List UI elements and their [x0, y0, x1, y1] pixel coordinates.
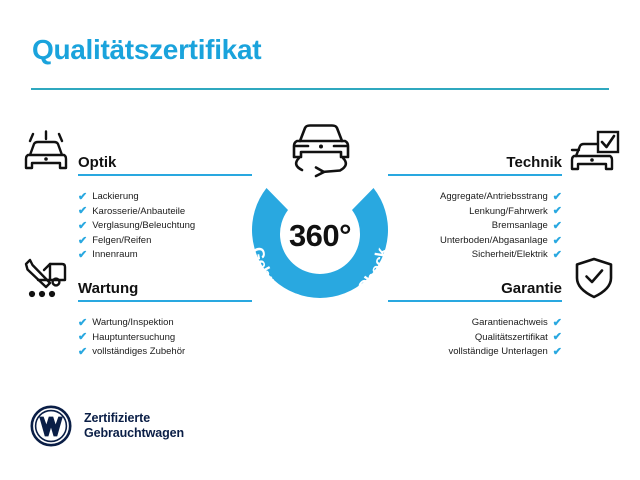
list-item-label: vollständige Unterlagen — [448, 345, 547, 360]
section-underline — [78, 300, 252, 302]
check-icon: ✔ — [78, 236, 87, 247]
check-icon: ✔ — [553, 221, 562, 232]
section-optik: Optik ✔Lackierung ✔Karosserie/Anbauteile… — [20, 130, 252, 263]
section-technik: Technik ✔Aggregate/Antriebsstrang ✔Lenku… — [388, 130, 620, 263]
check-icon: ✔ — [553, 347, 562, 358]
list-item-label: Qualitätszertifikat — [475, 331, 548, 346]
checklist: ✔Lackierung ✔Karosserie/Anbauteile ✔Verg… — [20, 190, 252, 263]
check-icon: ✔ — [78, 332, 87, 343]
list-item-label: Lackierung — [92, 190, 138, 205]
check-icon: ✔ — [553, 332, 562, 343]
section-title: Optik — [78, 154, 252, 174]
check-icon: ✔ — [78, 318, 87, 329]
list-item: ✔Garantienachweis — [388, 316, 620, 331]
checklist: ✔Garantienachweis ✔Qualitätszertifikat ✔… — [388, 316, 620, 360]
list-item: ✔Qualitätszertifikat — [388, 331, 620, 346]
list-item-label: Hauptuntersuchung — [92, 331, 175, 346]
shield-check-icon — [568, 256, 620, 302]
check-icon: ✔ — [553, 318, 562, 329]
list-item: ✔vollständiges Zubehör — [20, 345, 252, 360]
list-item-label: Unterboden/Abgasanlage — [440, 234, 548, 249]
checklist: ✔Aggregate/Antriebsstrang ✔Lenkung/Fahrw… — [388, 190, 620, 263]
check-icon: ✔ — [553, 206, 562, 217]
section-header: Wartung — [20, 256, 252, 308]
section-underline — [388, 300, 562, 302]
section-title: Technik — [388, 154, 562, 174]
section-title-wrap: Wartung — [78, 280, 252, 302]
section-title: Wartung — [78, 280, 252, 300]
list-item-label: Felgen/Reifen — [92, 234, 151, 249]
section-title-wrap: Technik — [388, 154, 562, 176]
list-item-label: Bremsanlage — [492, 219, 548, 234]
list-item-label: Lenkung/Fahrwerk — [469, 205, 548, 220]
section-title-wrap: Optik — [78, 154, 252, 176]
section-underline — [78, 174, 252, 176]
vw-lockup-line1: Zertifizierte — [84, 411, 184, 427]
list-item-label: Verglasung/Beleuchtung — [92, 219, 195, 234]
section-wartung: Wartung ✔Wartung/Inspektion ✔Hauptunters… — [20, 256, 252, 360]
list-item: ✔Verglasung/Beleuchtung — [20, 219, 252, 234]
wrench-car-icon — [20, 256, 72, 302]
list-item: ✔vollständige Unterlagen — [388, 345, 620, 360]
list-item: ✔Lackierung — [20, 190, 252, 205]
list-item-label: vollständiges Zubehör — [92, 345, 185, 360]
list-item: ✔Felgen/Reifen — [20, 234, 252, 249]
section-garantie: Garantie ✔Garantienachweis ✔Qualitätszer… — [388, 256, 620, 360]
section-header: Garantie — [388, 256, 620, 308]
list-item-label: Karosserie/Anbauteile — [92, 205, 185, 220]
list-item-label: Wartung/Inspektion — [92, 316, 174, 331]
list-item: ✔Bremsanlage — [388, 219, 620, 234]
vw-lockup-text: Zertifizierte Gebrauchtwagen — [84, 411, 184, 442]
vw-logo — [30, 405, 72, 447]
check-icon: ✔ — [553, 236, 562, 247]
section-header: Optik — [20, 130, 252, 182]
page-title: Qualitätszertifikat — [32, 34, 261, 66]
list-item: ✔Wartung/Inspektion — [20, 316, 252, 331]
list-item-label: Garantienachweis — [472, 316, 548, 331]
check-icon: ✔ — [78, 206, 87, 217]
car-checkbox-icon — [568, 130, 620, 176]
section-underline — [388, 174, 562, 176]
title-divider — [31, 88, 609, 90]
check-icon: ✔ — [78, 221, 87, 232]
car-shine-icon — [20, 130, 72, 176]
vw-brand-lockup: Zertifizierte Gebrauchtwagen — [30, 405, 184, 447]
list-item: ✔Aggregate/Antriebsstrang — [388, 190, 620, 205]
list-item: ✔Hauptuntersuchung — [20, 331, 252, 346]
list-item: ✔Lenkung/Fahrwerk — [388, 205, 620, 220]
check-icon: ✔ — [78, 192, 87, 203]
section-title: Garantie — [388, 280, 562, 300]
section-title-wrap: Garantie — [388, 280, 562, 302]
list-item-label: Aggregate/Antriebsstrang — [440, 190, 548, 205]
list-item: ✔Unterboden/Abgasanlage — [388, 234, 620, 249]
checklist: ✔Wartung/Inspektion ✔Hauptuntersuchung ✔… — [20, 316, 252, 360]
check-icon: ✔ — [553, 192, 562, 203]
badge-center-label: 360° — [232, 218, 408, 254]
car-rotation-icon — [282, 119, 360, 181]
vw-lockup-line2: Gebrauchtwagen — [84, 426, 184, 442]
section-header: Technik — [388, 130, 620, 182]
list-item: ✔Karosserie/Anbauteile — [20, 205, 252, 220]
badge-360-check: Gebrauchtwagen-Check 360° — [232, 155, 408, 331]
check-icon: ✔ — [78, 347, 87, 358]
